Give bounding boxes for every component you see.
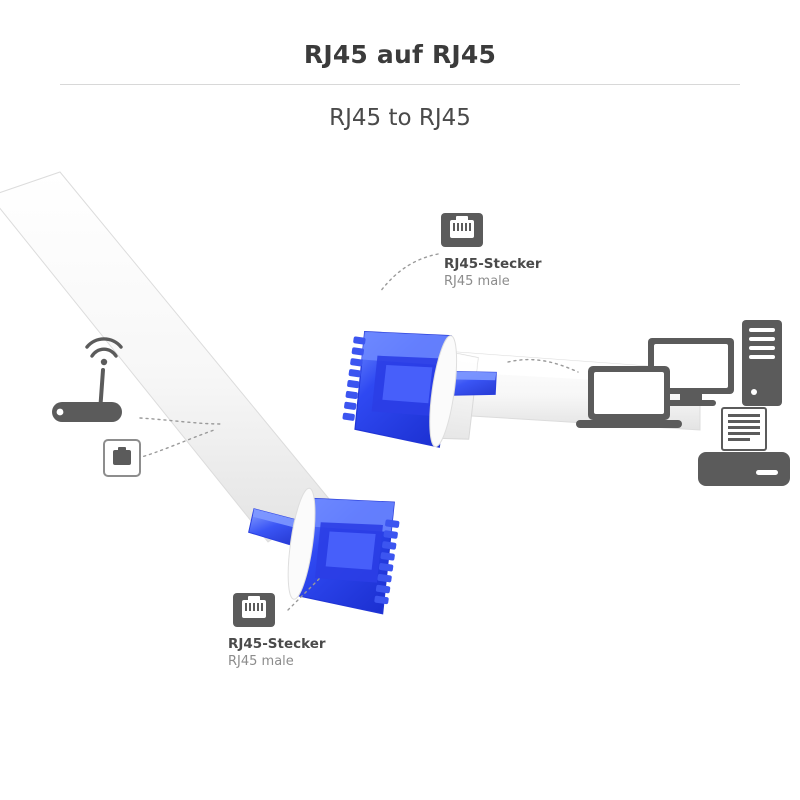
device-laptop-icon	[576, 366, 682, 428]
callout-bottom-label: RJ45-Stecker	[228, 636, 326, 652]
callout-top-sublabel: RJ45 male	[444, 274, 542, 290]
device-network-wall-socket-icon	[104, 440, 140, 476]
rj45-plug-icon	[440, 212, 484, 248]
rj45-plug-icon	[232, 592, 276, 628]
device-printer-icon	[698, 408, 790, 486]
callout-bottom-sublabel: RJ45 male	[228, 654, 326, 670]
diagram-canvas: RJ45 auf RJ45 RJ45 to RJ45	[0, 0, 800, 800]
device-wifi-router-icon	[52, 339, 122, 422]
cable-segment-left	[0, 172, 330, 542]
rj45-connector-top	[340, 322, 502, 454]
leader-top-callout	[380, 254, 438, 292]
callout-top-label: RJ45-Stecker	[444, 256, 542, 272]
device-server-tower-icon	[742, 320, 782, 406]
illustration	[0, 0, 800, 800]
